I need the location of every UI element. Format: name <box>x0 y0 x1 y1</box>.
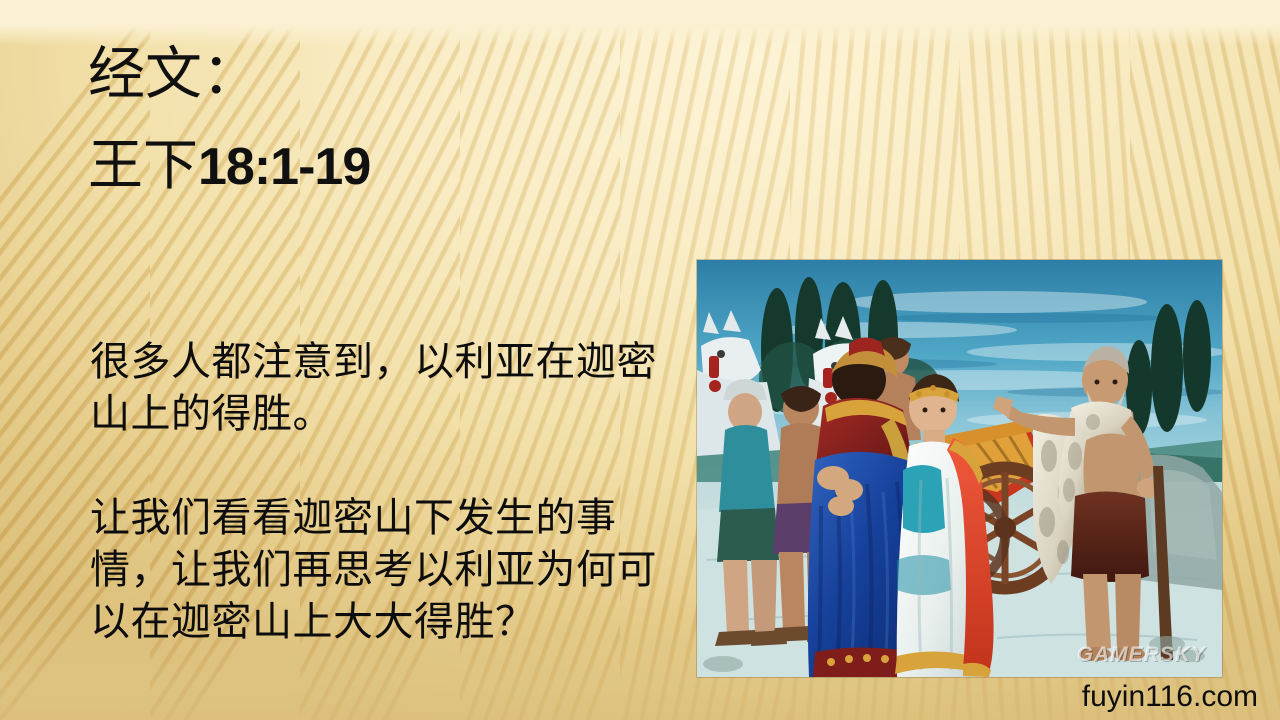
page-title: 经文： <box>88 44 688 106</box>
scripture-reference-book: 王下 <box>88 135 198 196</box>
site-watermark: fuyin116.com <box>1082 680 1258 714</box>
slide-content: 经文： 王下18:1-19 很多人都注意到，以利亚在迦密山上的得胜。 让我们看看… <box>0 0 1280 720</box>
body-paragraph: 让我们看看迦密山下发生的事情，让我们再思考以利亚为何可以在迦密山上大大得胜？ <box>90 492 675 648</box>
illustration-image: GAMERSKY <box>697 260 1222 677</box>
scripture-reference-verses: 18:1-19 <box>198 138 370 196</box>
body-text-block: 很多人都注意到，以利亚在迦密山上的得胜。 让我们看看迦密山下发生的事情，让我们再… <box>90 296 675 688</box>
scripture-reference: 王下18:1-19 <box>88 136 688 195</box>
slide-canvas: 经文： 王下18:1-19 很多人都注意到，以利亚在迦密山上的得胜。 让我们看看… <box>0 0 1280 720</box>
painting-artwork <box>697 260 1222 677</box>
body-paragraph: 很多人都注意到，以利亚在迦密山上的得胜。 <box>90 336 675 440</box>
title-block: 经文： 王下18:1-19 <box>88 44 688 195</box>
